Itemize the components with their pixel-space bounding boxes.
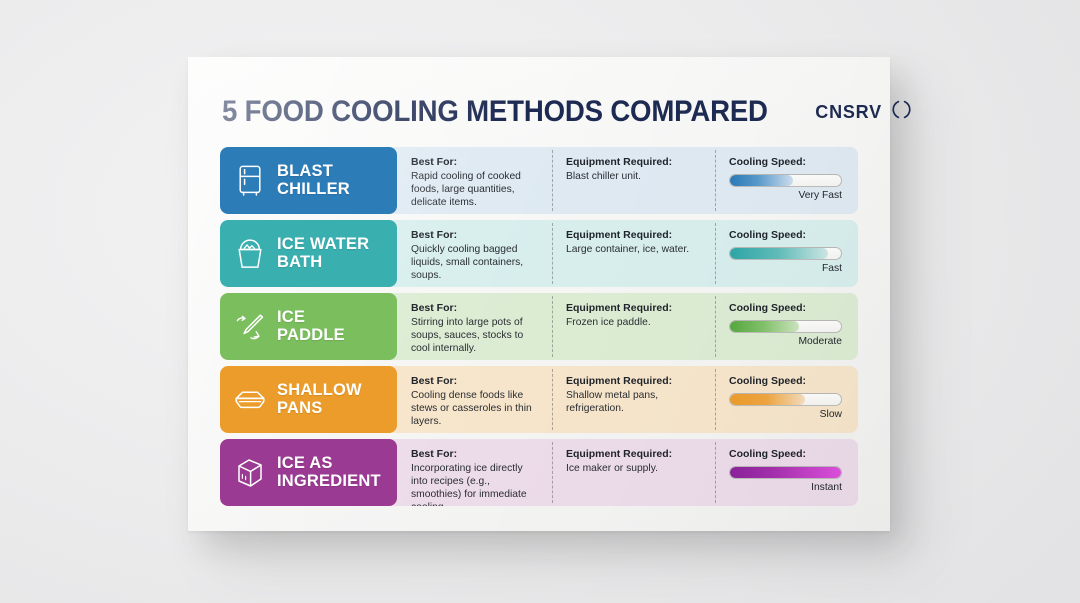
method-name-line1: BLAST — [277, 162, 333, 180]
cooling-speed-cell: Cooling Speed: Moderate — [715, 293, 858, 360]
page-title: 5 FOOD COOLING METHODS COMPARED — [222, 95, 768, 129]
cooling-speed-bar-fill — [730, 467, 841, 478]
brand-name: CNSRV — [815, 102, 882, 123]
broken-circle-logo-icon — [891, 99, 912, 125]
cooling-speed-bar-fill — [730, 175, 793, 186]
ice-paddle-icon — [233, 308, 267, 346]
best-for-label: Best For: — [411, 156, 540, 169]
equipment-cell: Equipment Required: Large container, ice… — [552, 220, 715, 287]
cooling-speed-bar — [729, 393, 842, 406]
cooling-speed-bar — [729, 320, 842, 333]
equipment-text: Shallow metal pans, refrigeration. — [566, 389, 703, 415]
method-name-line1: ICE WATER — [277, 235, 369, 253]
best-for-text: Rapid cooling of cooked foods, large qua… — [411, 170, 540, 209]
table-row: ICE PADDLE Best For: Stirring into large… — [220, 293, 858, 360]
method-name-line2: PANS — [277, 399, 322, 417]
method-name-line2: PADDLE — [277, 326, 345, 344]
method-name-line1: ICE AS — [277, 454, 333, 472]
equipment-label: Equipment Required: — [566, 156, 703, 169]
method-name-line1: ICE — [277, 308, 305, 326]
equipment-text: Large container, ice, water. — [566, 243, 703, 256]
cooling-speed-bar — [729, 247, 842, 260]
method-block: SHALLOW PANS — [220, 366, 397, 433]
cooling-speed-label: Cooling Speed: — [729, 229, 842, 242]
best-for-cell: Best For: Cooling dense foods like stews… — [397, 366, 552, 433]
equipment-cell: Equipment Required: Blast chiller unit. — [552, 147, 715, 214]
ice-bucket-icon — [233, 235, 267, 273]
cooling-speed-label: Cooling Speed: — [729, 448, 842, 461]
table-row: ICE WATER BATH Best For: Quickly cooling… — [220, 220, 858, 287]
cooling-speed-caption: Slow — [729, 409, 842, 420]
best-for-text: Cooling dense foods like stews or casser… — [411, 389, 540, 428]
poster-header: 5 FOOD COOLING METHODS COMPARED CNSRV — [220, 83, 858, 141]
table-row: SHALLOW PANS Best For: Cooling dense foo… — [220, 366, 858, 433]
best-for-label: Best For: — [411, 448, 540, 461]
best-for-label: Best For: — [411, 375, 540, 388]
method-name-line2: CHILLER — [277, 180, 350, 198]
cooling-speed-bar — [729, 174, 842, 187]
cooling-speed-label: Cooling Speed: — [729, 156, 842, 169]
method-name: SHALLOW PANS — [277, 382, 362, 418]
cooling-speed-caption: Fast — [729, 263, 842, 274]
best-for-cell: Best For: Quickly cooling bagged liquids… — [397, 220, 552, 287]
best-for-label: Best For: — [411, 229, 540, 242]
cooling-speed-label: Cooling Speed: — [729, 375, 842, 388]
table-row: BLAST CHILLER Best For: Rapid cooling of… — [220, 147, 858, 214]
shallow-pan-icon — [233, 381, 267, 419]
equipment-text: Ice maker or supply. — [566, 462, 703, 475]
cooling-speed-bar — [729, 466, 842, 479]
equipment-cell: Equipment Required: Shallow metal pans, … — [552, 366, 715, 433]
cooling-speed-caption: Moderate — [729, 336, 842, 347]
best-for-cell: Best For: Rapid cooling of cooked foods,… — [397, 147, 552, 214]
cooling-speed-bar-fill — [730, 321, 799, 332]
method-name: ICE PADDLE — [277, 309, 345, 345]
best-for-text: Stirring into large pots of soups, sauce… — [411, 316, 540, 355]
best-for-cell: Best For: Stirring into large pots of so… — [397, 293, 552, 360]
method-name-line2: INGREDIENT — [277, 472, 381, 490]
method-block: ICE WATER BATH — [220, 220, 397, 287]
equipment-label: Equipment Required: — [566, 302, 703, 315]
brand-logo: CNSRV — [815, 99, 912, 125]
equipment-label: Equipment Required: — [566, 229, 703, 242]
equipment-cell: Equipment Required: Ice maker or supply. — [552, 439, 715, 506]
method-block: ICE PADDLE — [220, 293, 397, 360]
method-name: ICE WATER BATH — [277, 236, 369, 272]
best-for-text: Quickly cooling bagged liquids, small co… — [411, 243, 540, 282]
equipment-label: Equipment Required: — [566, 375, 703, 388]
table-row: ICE AS INGREDIENT Best For: Incorporatin… — [220, 439, 858, 506]
method-block: BLAST CHILLER — [220, 147, 397, 214]
best-for-text: Incorporating ice directly into recipes … — [411, 462, 540, 506]
best-for-cell: Best For: Incorporating ice directly int… — [397, 439, 552, 506]
cooling-speed-label: Cooling Speed: — [729, 302, 842, 315]
cooling-speed-cell: Cooling Speed: Fast — [715, 220, 858, 287]
equipment-text: Frozen ice paddle. — [566, 316, 703, 329]
cooling-speed-caption: Instant — [729, 482, 842, 493]
cooling-speed-cell: Cooling Speed: Slow — [715, 366, 858, 433]
equipment-text: Blast chiller unit. — [566, 170, 703, 183]
cooling-speed-caption: Very Fast — [729, 190, 842, 201]
cooling-speed-cell: Cooling Speed: Very Fast — [715, 147, 858, 214]
cooling-speed-bar-fill — [730, 394, 805, 405]
equipment-cell: Equipment Required: Frozen ice paddle. — [552, 293, 715, 360]
ice-cube-icon — [233, 454, 267, 492]
infographic-poster: 5 FOOD COOLING METHODS COMPARED CNSRV — [188, 57, 890, 531]
method-block: ICE AS INGREDIENT — [220, 439, 397, 506]
method-name-line1: SHALLOW — [277, 381, 362, 399]
cooling-speed-bar-fill — [730, 248, 828, 259]
method-name-line2: BATH — [277, 253, 322, 271]
comparison-table: BLAST CHILLER Best For: Rapid cooling of… — [220, 147, 858, 506]
cooling-speed-cell: Cooling Speed: Instant — [715, 439, 858, 506]
method-name: ICE AS INGREDIENT — [277, 455, 381, 491]
best-for-label: Best For: — [411, 302, 540, 315]
refrigerator-icon — [233, 162, 267, 200]
equipment-label: Equipment Required: — [566, 448, 703, 461]
method-name: BLAST CHILLER — [277, 163, 350, 199]
